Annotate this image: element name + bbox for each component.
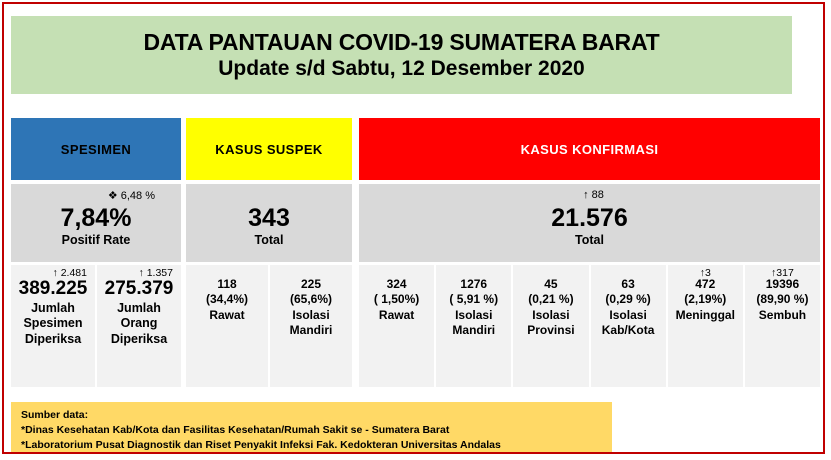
detail-value: 275.379 [105,278,174,300]
detail-label: IsolasiProvinsi [527,308,574,338]
detail-delta: ↑3 [700,267,711,279]
detail-label: JumlahOrangDiperiksa [111,301,167,348]
detail-percentage: (0,21 %) [528,292,573,308]
detail-delta: ↑317 [771,267,794,279]
summary-label-positif-rate: Positif Rate [62,233,131,247]
detail-percentage: ( 5,91 %) [449,292,498,308]
detail-label: Rawat [209,308,244,323]
source-line-1: *Dinas Kesehatan Kab/Kota dan Fasilitas … [21,423,612,438]
section-header-spesimen: SPESIMEN [11,118,181,180]
detail-percentage: (34,4%) [206,292,248,308]
summary-value-konfirmasi-total: 21.576 [551,205,627,231]
detail-group-kasus-konfirmasi: 324( 1,50%)Rawat1276( 5,91 %)IsolasiMand… [359,265,820,387]
summary-label-konfirmasi-total: Total [575,233,604,247]
detail-label: IsolasiMandiri [452,308,495,338]
source-heading: Sumber data: [21,408,612,423]
detail-percentage: (65,6%) [290,292,332,308]
source-line-2: *Laboratorium Pusat Diagnostik dan Riset… [21,438,612,453]
detail-value: 118 [217,278,236,292]
detail-value: 389.225 [19,278,88,300]
page-title: DATA PANTAUAN COVID-19 SUMATERA BARAT [143,29,659,55]
summary-kasus-suspek: 343 Total [186,184,352,262]
detail-cell: 63(0,29 %)IsolasiKab/Kota [591,265,666,387]
detail-cell: 118(34,4%)Rawat [186,265,268,387]
summary-delta-spesimen: ❖ 6,48 % [108,189,155,202]
detail-cell: 324( 1,50%)Rawat [359,265,434,387]
detail-label: JumlahSpesimenDiperiksa [23,301,82,348]
detail-group-spesimen: ↑ 2.481389.225JumlahSpesimenDiperiksa↑ 1… [11,265,181,387]
detail-percentage: (89,90 %) [756,292,808,308]
detail-value: 19396 [766,278,799,292]
detail-value: 1276 [460,278,487,292]
detail-value: 45 [544,278,557,292]
detail-value: 324 [387,278,407,292]
detail-label: Sembuh [759,308,806,323]
dashboard-frame: DATA PANTAUAN COVID-19 SUMATERA BARAT Up… [2,2,825,454]
page-title-banner: DATA PANTAUAN COVID-19 SUMATERA BARAT Up… [11,16,792,94]
detail-cell: ↑3472(2,19%)Meninggal [668,265,743,387]
detail-cell: 1276( 5,91 %)IsolasiMandiri [436,265,511,387]
detail-label: IsolasiMandiri [290,308,333,338]
summary-delta-konfirmasi: ↑ 88 [583,189,604,201]
detail-cell: 225(65,6%)IsolasiMandiri [270,265,352,387]
summary-kasus-konfirmasi: ↑ 88 21.576 Total [359,184,820,262]
detail-cell: ↑ 1.357275.379JumlahOrangDiperiksa [97,265,181,387]
detail-percentage: ( 1,50%) [374,292,419,308]
detail-delta: ↑ 2.481 [53,267,87,279]
detail-group-kasus-suspek: 118(34,4%)Rawat225(65,6%)IsolasiMandiri [186,265,352,387]
detail-value: 63 [621,278,634,292]
summary-value-suspek-total: 343 [248,205,290,231]
detail-label: IsolasiKab/Kota [602,308,655,338]
detail-percentage: (2,19%) [684,292,726,308]
section-header-kasus-konfirmasi: KASUS KONFIRMASI [359,118,820,180]
detail-cell: ↑31719396(89,90 %)Sembuh [745,265,820,387]
summary-label-suspek-total: Total [255,233,284,247]
source-data-box: Sumber data: *Dinas Kesehatan Kab/Kota d… [11,402,612,452]
summary-spesimen: ❖ 6,48 % 7,84% Positif Rate [11,184,181,262]
detail-percentage: (0,29 %) [605,292,650,308]
detail-label: Meninggal [676,308,735,323]
detail-value: 472 [695,278,715,292]
summary-value-positif-rate: 7,84% [61,205,132,231]
section-header-kasus-suspek: KASUS SUSPEK [186,118,352,180]
detail-cell: 45(0,21 %)IsolasiProvinsi [513,265,588,387]
detail-delta: ↑ 1.357 [139,267,173,279]
detail-cell: ↑ 2.481389.225JumlahSpesimenDiperiksa [11,265,95,387]
page-subtitle-date: Update s/d Sabtu, 12 Desember 2020 [218,56,585,81]
detail-value: 225 [301,278,321,292]
detail-label: Rawat [379,308,414,323]
